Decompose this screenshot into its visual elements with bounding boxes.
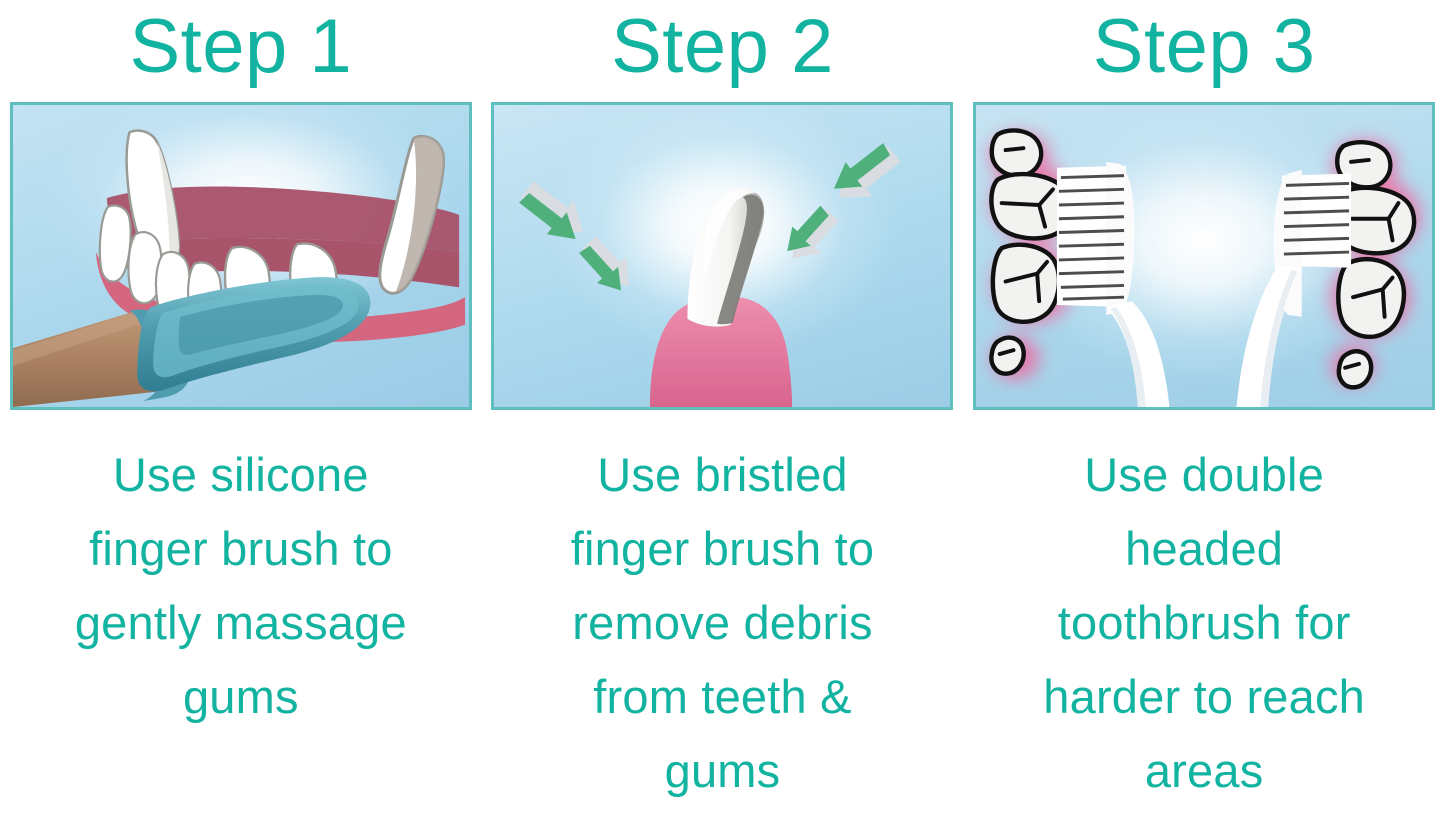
bristled-finger-brush-tooth-arrows-illustration (494, 105, 950, 407)
step-1-illustration (10, 102, 472, 410)
step-2-title: Step 2 (611, 0, 834, 102)
step-3-illustration (973, 102, 1435, 410)
step-3-title: Step 3 (1093, 0, 1316, 102)
silicone-finger-brush-on-gums-illustration (13, 105, 469, 407)
step-1-caption: Use silicone finger brush to gently mass… (26, 438, 456, 734)
left-toothbrush-head (1057, 162, 1170, 407)
step-column-1: Step 1 (0, 0, 482, 820)
double-headed-toothbrush-illustration (976, 105, 1432, 407)
step-2-illustration (491, 102, 953, 410)
dental-care-steps-infographic: Step 1 (0, 0, 1445, 820)
step-3-caption: Use double headed toothbrush for harder … (989, 438, 1419, 808)
step-2-caption: Use bristled finger brush to remove debr… (507, 438, 937, 808)
steps-row: Step 1 (0, 0, 1445, 820)
step-column-2: Step 2 (482, 0, 964, 820)
step-column-3: Step 3 (963, 0, 1445, 820)
step-1-title: Step 1 (129, 0, 352, 102)
